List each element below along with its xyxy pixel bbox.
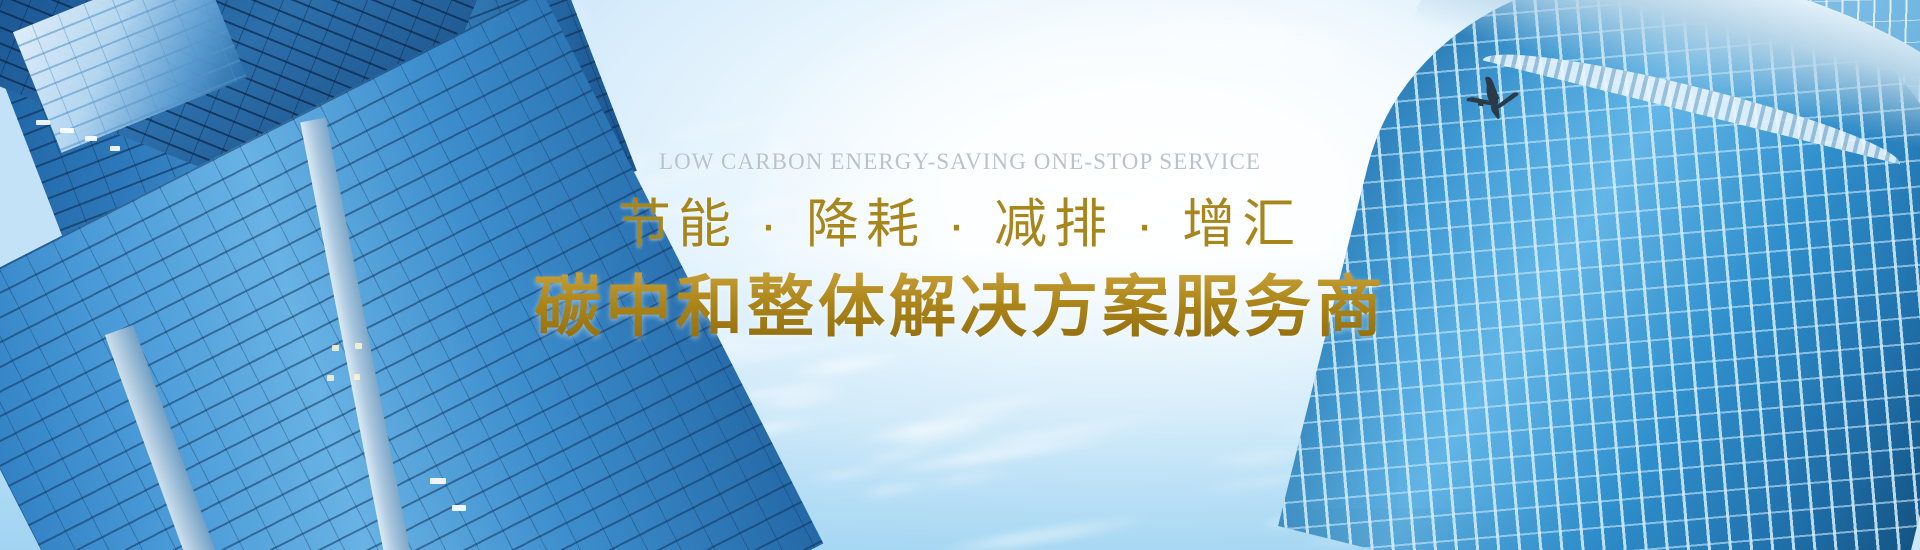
window-light-fleck xyxy=(354,374,360,380)
window-light-fleck xyxy=(36,120,50,125)
window-light-fleck xyxy=(332,345,339,351)
window-light-fleck xyxy=(327,375,334,381)
window-light-fleck xyxy=(430,478,446,484)
cloud-puff xyxy=(1240,30,1350,66)
window-light-fleck xyxy=(85,136,97,141)
window-light-fleck xyxy=(110,146,120,151)
window-light-fleck xyxy=(355,343,362,349)
left-building-cluster xyxy=(0,0,560,550)
window-light-fleck xyxy=(452,505,466,511)
hero-banner: LOW CARBON ENERGY-SAVING ONE-STOP SERVIC… xyxy=(0,0,1920,550)
window-light-fleck xyxy=(60,128,74,133)
right-building-cluster xyxy=(1360,0,1920,550)
